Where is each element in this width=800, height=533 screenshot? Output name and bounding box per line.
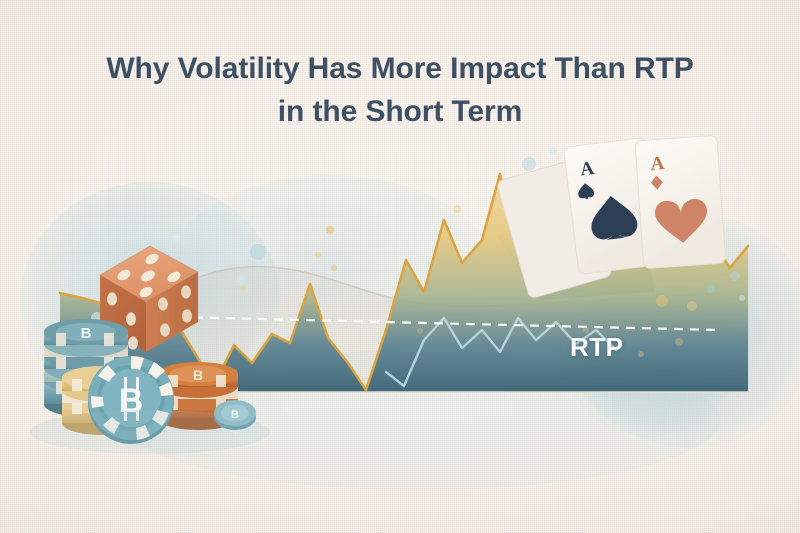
infographic-canvas: A A [0, 0, 800, 533]
page-title: Why Volatility Has More Impact Than RTP … [0, 48, 800, 133]
rtp-annotation-label: RTP [570, 332, 624, 363]
bitcoin-symbol: B [193, 367, 203, 383]
title-line-1: Why Volatility Has More Impact Than RTP [106, 52, 693, 85]
bitcoin-symbol: B [81, 325, 92, 342]
card-ace-hearts: A [635, 135, 726, 268]
svg-text:A: A [650, 153, 665, 175]
title-line-2: in the Short Term [0, 91, 800, 134]
svg-text:A: A [579, 158, 595, 181]
